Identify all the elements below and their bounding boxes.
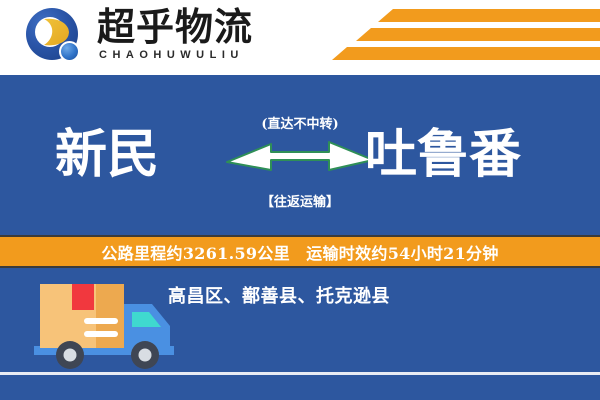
decorative-stripes — [330, 9, 600, 67]
chaohu-logistics-logo — [26, 8, 88, 68]
route-info-bar: 公路里程约3261.59公里 运输时效约54小时21分钟 — [0, 235, 600, 268]
footer-divider — [0, 372, 600, 375]
brand-name-cn: 超乎物流 — [97, 6, 253, 48]
covered-districts: 高昌区、鄯善县、托克逊县 — [168, 282, 390, 308]
destination-city: 吐鲁番 — [365, 125, 521, 185]
banner-header: 超乎物流 CHAOHUWULIU — [0, 0, 600, 75]
round-trip-note: 【往返运输】 — [225, 191, 375, 210]
route-section: 新民 (直达不中转) 【往返运输】 吐鲁番 — [0, 75, 600, 235]
bidirectional-arrow-svg — [225, 139, 375, 173]
stripe-middle — [356, 28, 600, 41]
stripe-bottom — [332, 47, 600, 60]
logo-dot-icon — [59, 41, 80, 62]
delivery-truck-svg — [28, 276, 174, 374]
origin-city: 新民 — [55, 125, 159, 185]
bidirectional-arrow-icon — [225, 139, 375, 173]
route-connector: (直达不中转) 【往返运输】 — [225, 113, 375, 213]
direct-service-note: (直达不中转) — [225, 113, 375, 132]
distance-duration-text: 公路里程约3261.59公里 运输时效约54小时21分钟 — [101, 240, 498, 264]
stripe-top — [378, 9, 600, 22]
coverage-section: 高昌区、鄯善县、托克逊县 — [0, 268, 600, 400]
brand-name-en: CHAOHUWULIU — [99, 49, 244, 61]
delivery-truck-icon — [28, 276, 174, 374]
logistics-route-banner: 超乎物流 CHAOHUWULIU 新民 (直达不中转) 【往返运输】 吐鲁番 公… — [0, 0, 600, 400]
